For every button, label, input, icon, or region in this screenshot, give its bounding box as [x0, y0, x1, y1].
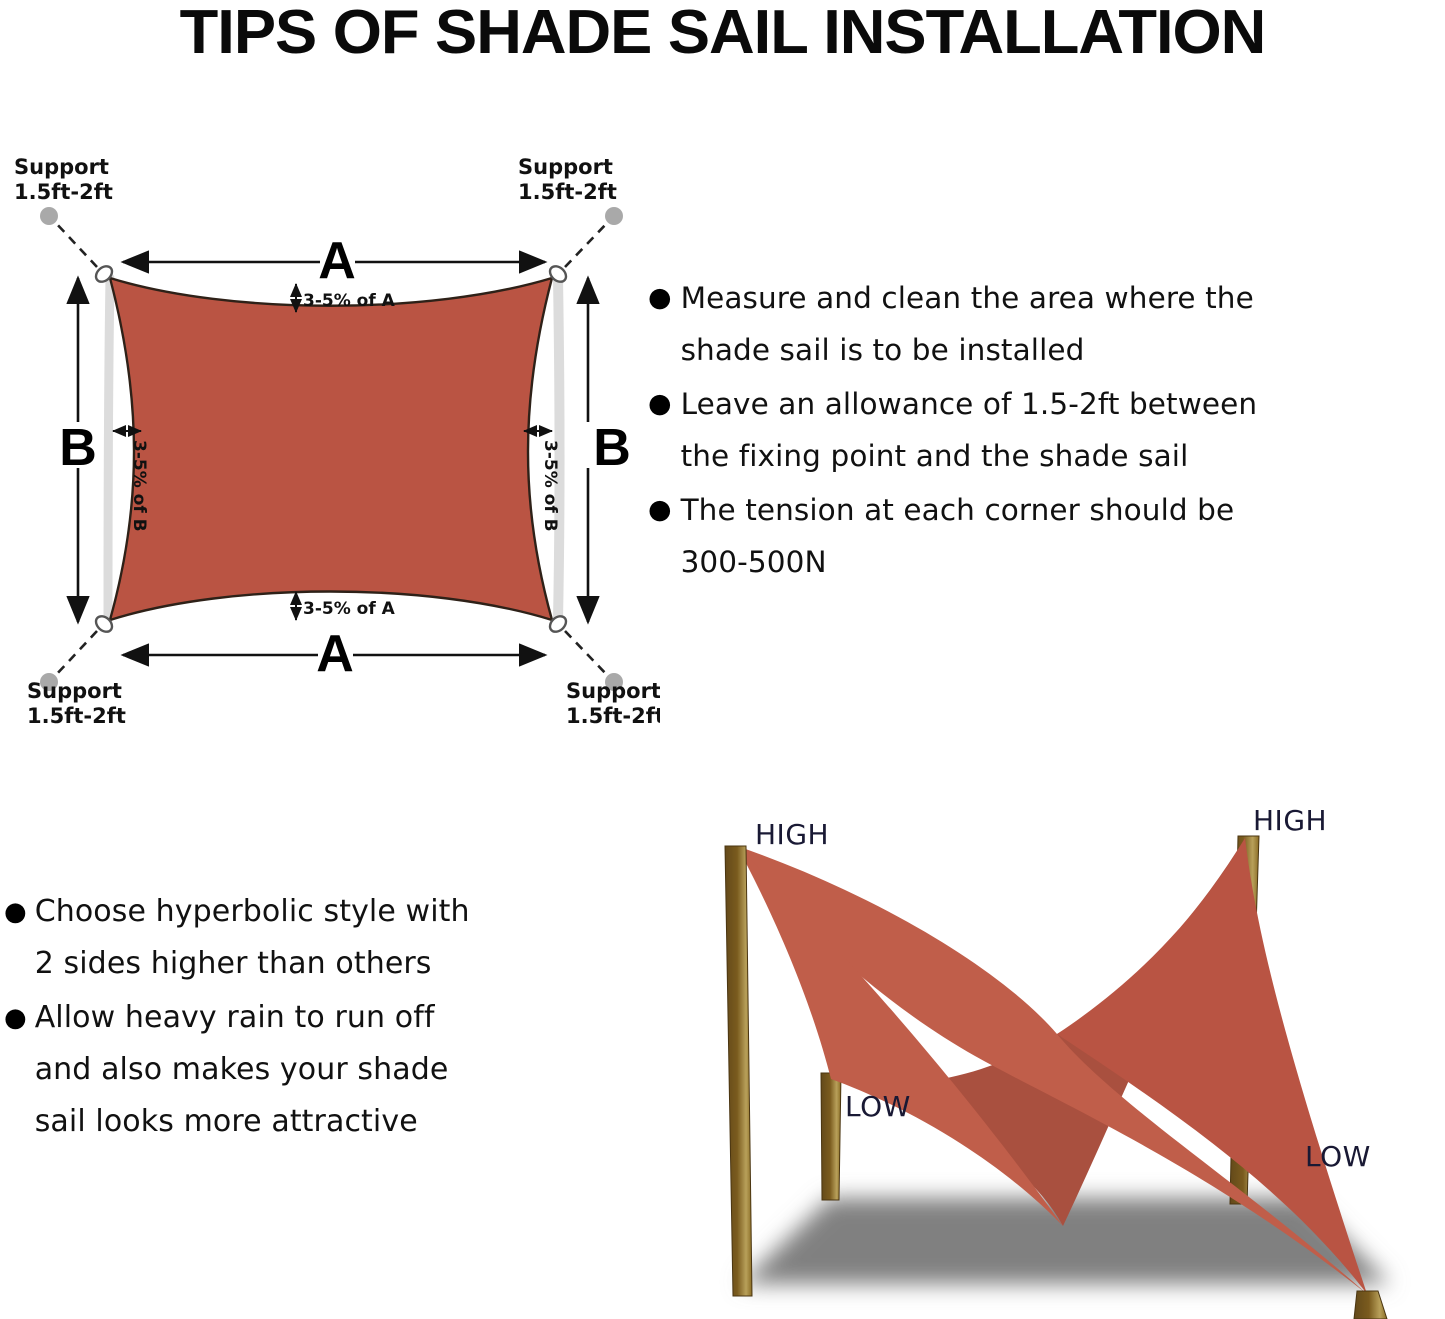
dimension-a-label: A — [318, 232, 356, 290]
list-item: ● The tension at each corner should be 3… — [648, 484, 1445, 588]
hyperbolic-sail-illustration — [645, 786, 1445, 1319]
installation-tips-list-right: ● Measure and clean the area where the s… — [648, 272, 1445, 590]
list-item: ● Leave an allowance of 1.5-2ft between … — [648, 378, 1445, 482]
list-item-line: 2 sides higher than others — [35, 946, 432, 981]
bullet-icon: ● — [4, 886, 27, 938]
installation-tips-list-bottom-left: ● Choose hyperbolic style with 2 sides h… — [4, 886, 624, 1150]
support-dot — [605, 207, 623, 225]
list-item-text: Choose hyperbolic style with 2 sides hig… — [35, 886, 624, 990]
support-label-line2: 1.5ft-2ft — [14, 180, 113, 204]
curve-depth-b-label: 3-5% of B — [129, 440, 149, 532]
list-item-text: Allow heavy rain to run off and also mak… — [35, 992, 624, 1148]
list-item-text: The tension at each corner should be 300… — [681, 484, 1445, 588]
curve-depth-a-label: 3-5% of A — [303, 291, 396, 311]
list-item-line: Choose hyperbolic style with — [35, 894, 470, 929]
list-item: ● Measure and clean the area where the s… — [648, 272, 1445, 376]
dimension-a-label: A — [316, 625, 354, 683]
list-item-line: sail looks more attractive — [35, 1104, 418, 1139]
support-label-line1: Support — [14, 155, 109, 179]
support-label-line1: Support — [566, 679, 660, 703]
list-item: ● Choose hyperbolic style with 2 sides h… — [4, 886, 624, 990]
list-item-text: Leave an allowance of 1.5-2ft between th… — [681, 378, 1445, 482]
support-label-line2: 1.5ft-2ft — [27, 704, 126, 728]
curve-depth-b-left: 3-5% of B — [113, 431, 149, 532]
support-label-line2: 1.5ft-2ft — [566, 704, 660, 728]
dimension-a-top: A — [123, 232, 545, 290]
support-label-line1: Support — [518, 155, 613, 179]
label-high-left: HIGH — [755, 818, 829, 851]
bullet-icon: ● — [648, 484, 672, 536]
list-item-line: the fixing point and the shade sail — [681, 439, 1189, 473]
list-item-line: The tension at each corner should be — [681, 493, 1235, 527]
list-item-text: Measure and clean the area where the sha… — [681, 272, 1445, 376]
support-label-line1: Support — [27, 679, 122, 703]
shade-sail-shape — [110, 278, 552, 620]
post-low-left — [821, 1073, 841, 1200]
bullet-icon: ● — [648, 378, 672, 430]
list-item-line: Allow heavy rain to run off — [35, 1000, 435, 1035]
label-low-left: LOW — [845, 1090, 911, 1123]
dimension-b-right: B — [588, 278, 631, 622]
curve-depth-a-label: 3-5% of A — [303, 599, 396, 619]
curve-depth-b-label: 3-5% of B — [540, 440, 560, 532]
bullet-icon: ● — [648, 272, 672, 324]
list-item: ● Allow heavy rain to run off and also m… — [4, 992, 624, 1148]
infographic-page: TIPS OF SHADE SAIL INSTALLATION — [0, 0, 1445, 1319]
dimension-b-left: B — [59, 278, 97, 622]
label-low-right: LOW — [1305, 1140, 1371, 1173]
support-label-line2: 1.5ft-2ft — [518, 180, 617, 204]
dimension-b-label: B — [593, 419, 631, 477]
curve-depth-a-bottom: 3-5% of A — [296, 592, 396, 620]
list-item-line: Leave an allowance of 1.5-2ft between — [681, 387, 1258, 421]
list-item-line: Measure and clean the area where the — [681, 281, 1254, 315]
list-item-line: 300-500N — [681, 545, 827, 579]
rectangular-sail-diagram: Support 1.5ft-2ft Support 1.5ft-2ft Supp… — [0, 150, 660, 730]
label-high-right: HIGH — [1253, 804, 1327, 837]
list-item-line: and also makes your shade — [35, 1052, 449, 1087]
support-label-top-right: Support 1.5ft-2ft — [518, 155, 617, 204]
dimension-b-label: B — [59, 419, 97, 477]
dimension-a-bottom: A — [123, 625, 545, 683]
support-label-bottom-right: Support 1.5ft-2ft — [566, 679, 660, 728]
list-item-line: shade sail is to be installed — [681, 333, 1085, 367]
support-label-top-left: Support 1.5ft-2ft — [14, 155, 113, 204]
support-dot — [40, 207, 58, 225]
support-label-bottom-left: Support 1.5ft-2ft — [27, 679, 126, 728]
page-title: TIPS OF SHADE SAIL INSTALLATION — [0, 2, 1445, 64]
post-high-left — [725, 846, 752, 1296]
post-low-right-main — [1354, 1291, 1387, 1319]
bullet-icon: ● — [4, 992, 27, 1044]
